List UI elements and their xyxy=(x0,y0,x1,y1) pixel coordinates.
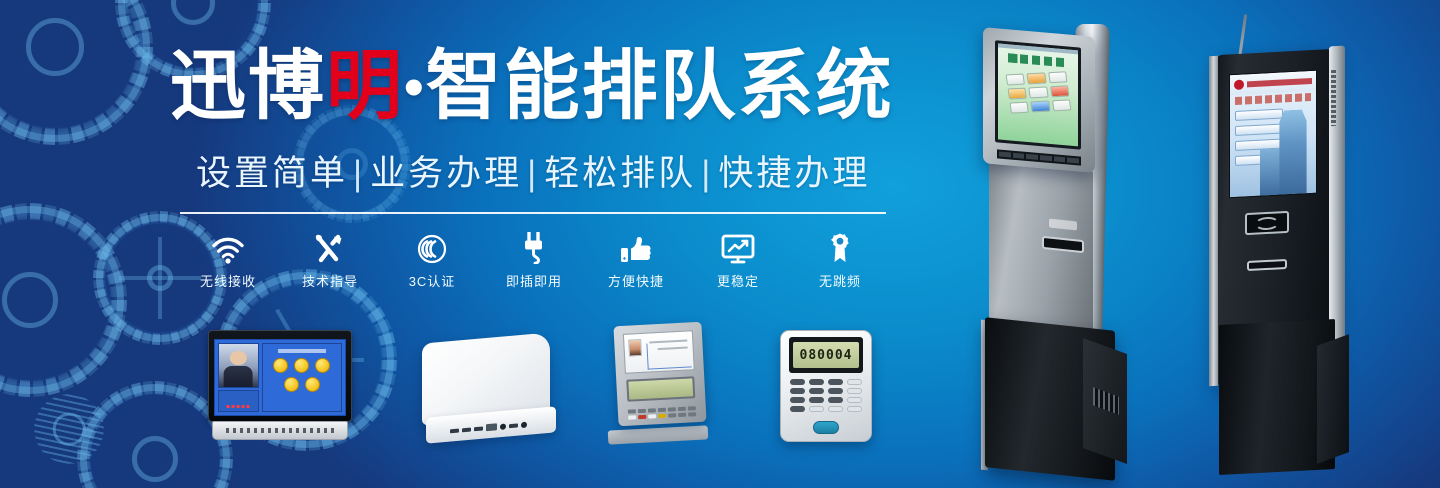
kiosk-abc xyxy=(975,24,1150,464)
keypad-screen-window: 080004 xyxy=(789,337,863,373)
emoji-rating-group xyxy=(265,358,339,392)
title-highlight-char: 明 xyxy=(326,44,404,129)
lcd-evaluator-product xyxy=(208,330,352,440)
ccc-cert-icon xyxy=(384,228,480,264)
feature-item-stable: 更稳定 xyxy=(690,228,786,290)
host-controller-product xyxy=(422,338,558,442)
title-bullet: • xyxy=(404,55,426,118)
keypad-shell: 080004 xyxy=(780,330,872,442)
feature-label: 即插即用 xyxy=(486,271,582,290)
kiosk-left-rail xyxy=(1209,56,1218,386)
feature-label: 方便快捷 xyxy=(588,271,684,290)
staff-avatar xyxy=(628,339,642,357)
subtitle-item-2: 业务办理 xyxy=(370,154,522,193)
thumbs-up-icon xyxy=(588,228,684,264)
subtitle-item-3: 轻松排队 xyxy=(544,154,696,193)
desk-stand xyxy=(608,425,709,444)
banner-title: 迅博明•智能排队系统 xyxy=(170,44,894,130)
subtitle-item-4: 快捷办理 xyxy=(718,154,870,193)
keypad-caller-product: 080004 xyxy=(780,330,872,442)
subtitle-separator: | xyxy=(696,154,718,193)
screen-control-strip xyxy=(997,149,1081,165)
desk-unit-body xyxy=(613,322,706,426)
feature-label: 技术指导 xyxy=(282,271,378,290)
tools-icon xyxy=(282,228,378,264)
feature-label: 更稳定 xyxy=(690,271,786,290)
feature-list: 无线接收 技术指导 xyxy=(180,228,890,290)
subtitle-item-1: 设置简单 xyxy=(196,154,348,193)
rating-prompt xyxy=(278,349,325,353)
emoji-face xyxy=(284,377,299,392)
desk-lcd-display xyxy=(626,376,695,402)
rating-panel xyxy=(262,343,342,412)
staff-panel xyxy=(218,343,259,412)
feature-item-nohopping: 无跳频 xyxy=(792,228,888,290)
kiosk-touchscreen[interactable] xyxy=(995,40,1081,150)
staff-name-plate xyxy=(218,390,259,412)
title-part-1: 迅博 xyxy=(170,44,326,129)
chart-monitor-icon xyxy=(690,228,786,264)
feature-item-plugplay: 即插即用 xyxy=(486,228,582,290)
subtitle-separator: | xyxy=(348,154,370,193)
feature-item-convenient: 方便快捷 xyxy=(588,228,684,290)
monitor-stand xyxy=(212,421,348,440)
desktop-evaluator-product xyxy=(608,324,714,442)
title-part-2: 智能排队系统 xyxy=(426,44,894,129)
emoji-face xyxy=(294,358,309,373)
emoji-face xyxy=(305,377,320,392)
bank-logo xyxy=(1008,53,1067,67)
kiosk-base-side xyxy=(1317,334,1349,464)
screen-notice-text xyxy=(1235,93,1311,105)
emoji-face xyxy=(273,358,288,373)
wifi-icon xyxy=(180,228,276,264)
promo-banner: 迅博明•智能排队系统 设置简单|业务办理|轻松排队|快捷办理 无线接收 xyxy=(0,0,1440,488)
emoji-face xyxy=(315,358,330,373)
evaluator-screen xyxy=(214,339,346,416)
feature-item-ccc: 3C认证 xyxy=(384,228,480,290)
divider-line xyxy=(180,212,886,214)
menu-item[interactable] xyxy=(1235,123,1283,136)
menu-item[interactable] xyxy=(1235,108,1283,121)
award-ribbon-icon xyxy=(792,228,888,264)
product-showcase: 080004 xyxy=(0,316,900,466)
feature-label: 无线接收 xyxy=(180,271,276,290)
feature-item-wireless: 无线接收 xyxy=(180,228,276,290)
call-next-button[interactable] xyxy=(813,421,839,434)
rating-stars xyxy=(227,405,250,408)
bank-logo-header xyxy=(1230,71,1316,96)
staff-name-card xyxy=(623,330,695,374)
kiosk-head xyxy=(983,27,1095,173)
plug-icon xyxy=(486,228,582,264)
feature-label: 无跳频 xyxy=(792,271,888,290)
banner-subtitle: 设置简单|业务办理|轻松排队|快捷办理 xyxy=(196,152,870,196)
service-tile-grid[interactable] xyxy=(1005,71,1071,113)
card-reader[interactable] xyxy=(1245,211,1289,235)
bank-logo-mark xyxy=(1234,80,1244,91)
speaker-grille-icon xyxy=(1331,70,1336,126)
feature-label: 3C认证 xyxy=(384,271,480,290)
staff-photo xyxy=(218,343,259,388)
ticket-slot xyxy=(1247,259,1287,271)
keypad-buttons xyxy=(790,379,862,412)
feature-item-support: 技术指导 xyxy=(282,228,378,290)
card-accent xyxy=(646,341,691,369)
desk-button-row xyxy=(628,406,698,420)
kiosk-touchscreen[interactable] xyxy=(1229,70,1317,199)
keypad-number-display: 080004 xyxy=(793,342,859,368)
monitor-bezel xyxy=(208,330,352,422)
bank-name-text xyxy=(1247,78,1312,87)
subtitle-separator: | xyxy=(522,154,544,193)
kiosk-icbc xyxy=(1205,22,1365,462)
